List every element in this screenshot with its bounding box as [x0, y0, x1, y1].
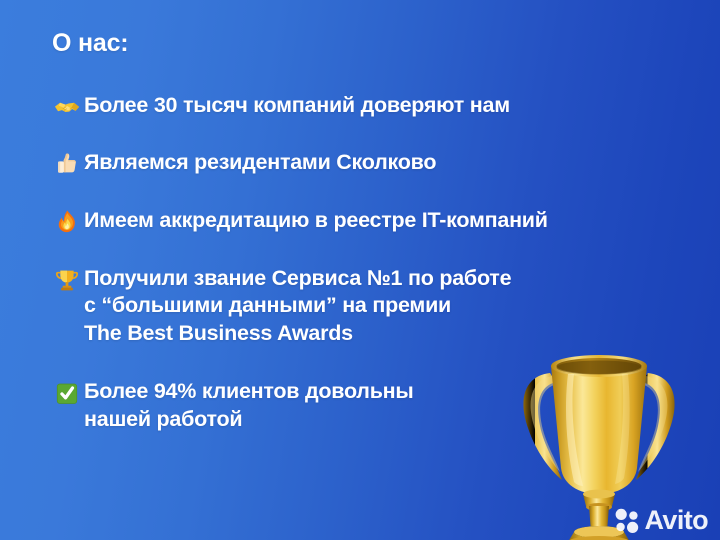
list-item: Более 30 тысяч компаний доверяют нам [52, 92, 692, 120]
list-item-label: Имеем аккредитацию в реестре IT-компаний [84, 207, 548, 235]
avito-watermark: Avito [614, 507, 709, 534]
fire-icon [52, 208, 82, 236]
handshake-icon [52, 93, 82, 121]
list-item-label: Более 94% клиентов довольны нашей работо… [84, 378, 414, 434]
avito-wordmark: Avito [645, 507, 709, 534]
list-item: Имеем аккредитацию в реестре IT-компаний [52, 207, 692, 235]
white-check-mark-icon [52, 379, 82, 407]
list-item: Являемся резидентами Сколково [52, 149, 692, 177]
list-item: Более 94% клиентов довольны нашей работо… [52, 378, 692, 434]
avito-dots-icon [614, 508, 640, 534]
content-block: О нас: Более 30 тысяч компаний доверяют … [52, 30, 692, 434]
promo-banner: О нас: Более 30 тысяч компаний доверяют … [0, 0, 720, 540]
list-item-label: Получили звание Сервиса №1 по работе с “… [84, 265, 511, 349]
list-item: Получили звание Сервиса №1 по работе с “… [52, 265, 692, 349]
list-item-label: Являемся резидентами Сколково [84, 149, 436, 177]
list-item-label: Более 30 тысяч компаний доверяют нам [84, 92, 510, 120]
page-title: О нас: [52, 30, 692, 58]
trophy-icon [52, 266, 82, 294]
thumbs-up-icon [52, 150, 82, 178]
